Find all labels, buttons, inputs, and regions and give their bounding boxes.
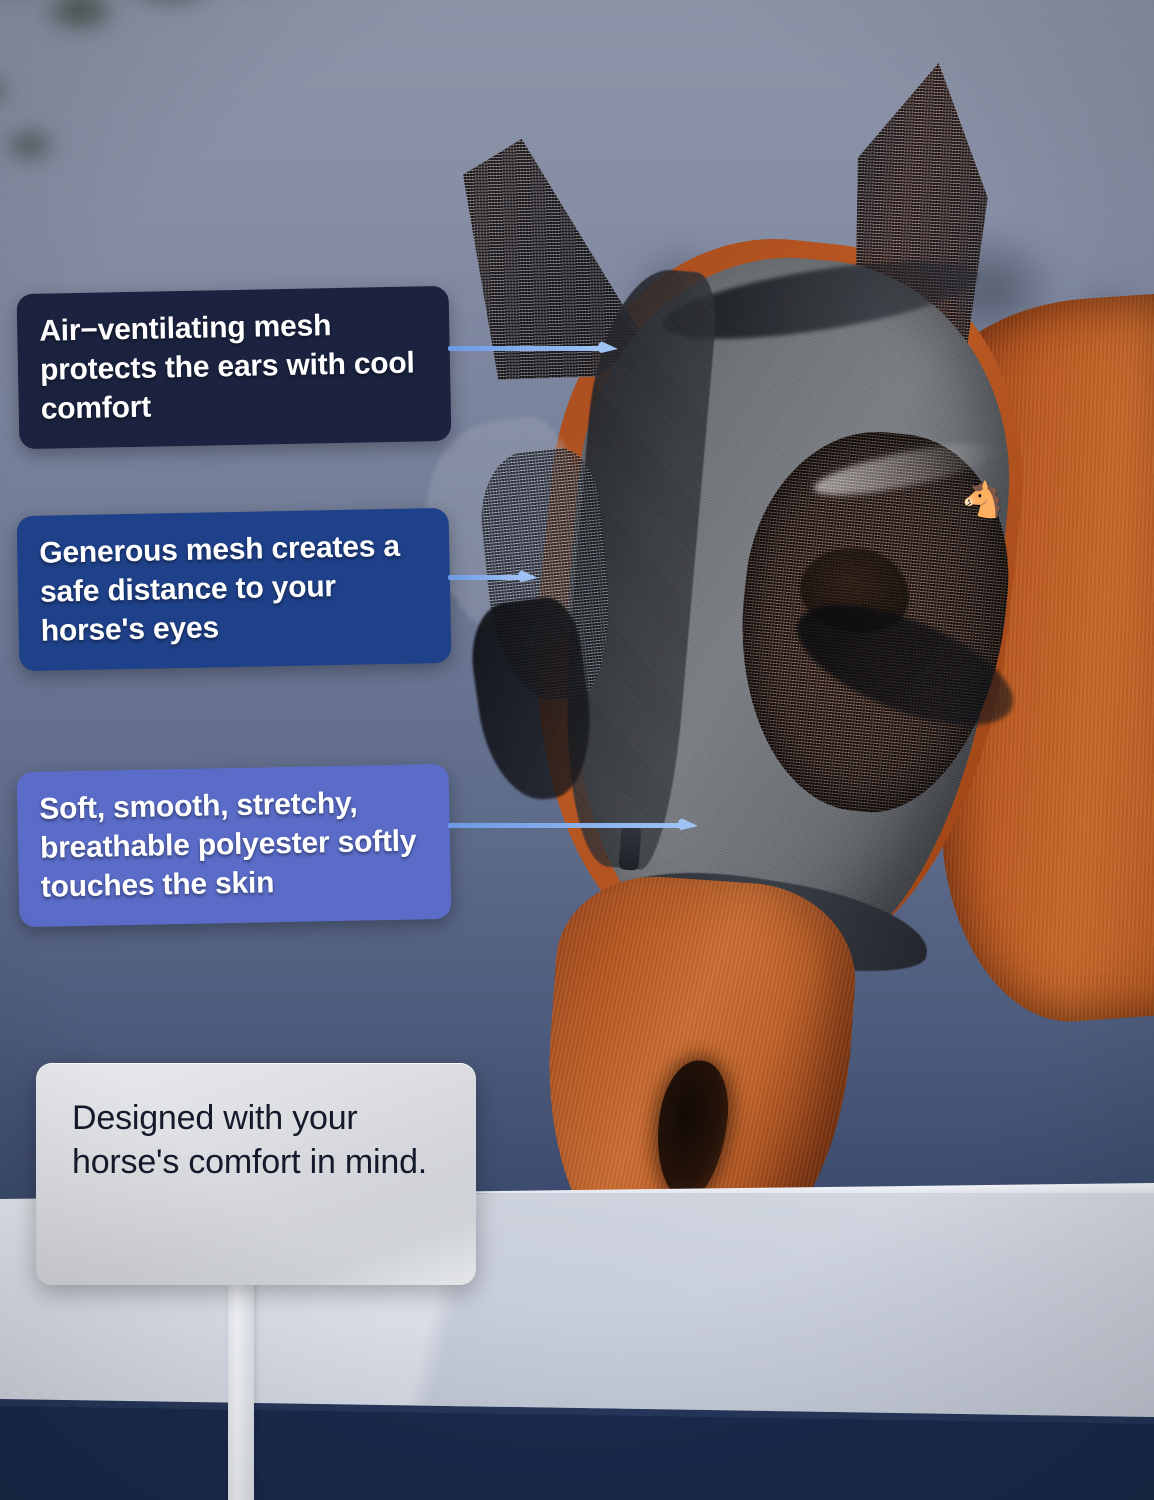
arrow-shaft <box>448 346 600 351</box>
arrow-shaft <box>448 575 520 580</box>
arrow-shaft <box>448 823 680 828</box>
callout-fabric: Soft, smooth, stretchy, breathable polye… <box>17 764 452 927</box>
callout-ears: Air−ventilating mesh protects the ears w… <box>17 286 452 449</box>
callout-eyes: Generous mesh creates a safe distance to… <box>17 508 452 671</box>
callout-arrow-fabric <box>448 818 698 832</box>
arrow-head-icon <box>677 817 698 833</box>
fly-mask-tab <box>618 825 641 870</box>
arrow-head-icon <box>597 340 618 356</box>
sign-placard: Designed with your horse's comfort in mi… <box>36 1063 476 1285</box>
callout-arrow-ears <box>448 341 618 355</box>
product-infographic: 🐴 Air−ventilating mesh protects the ears… <box>0 0 1154 1500</box>
arrow-head-icon <box>517 569 538 585</box>
sign-post <box>228 1270 254 1500</box>
horse-head-logo: 🐴 <box>960 477 990 521</box>
callout-arrow-eyes <box>448 570 538 584</box>
